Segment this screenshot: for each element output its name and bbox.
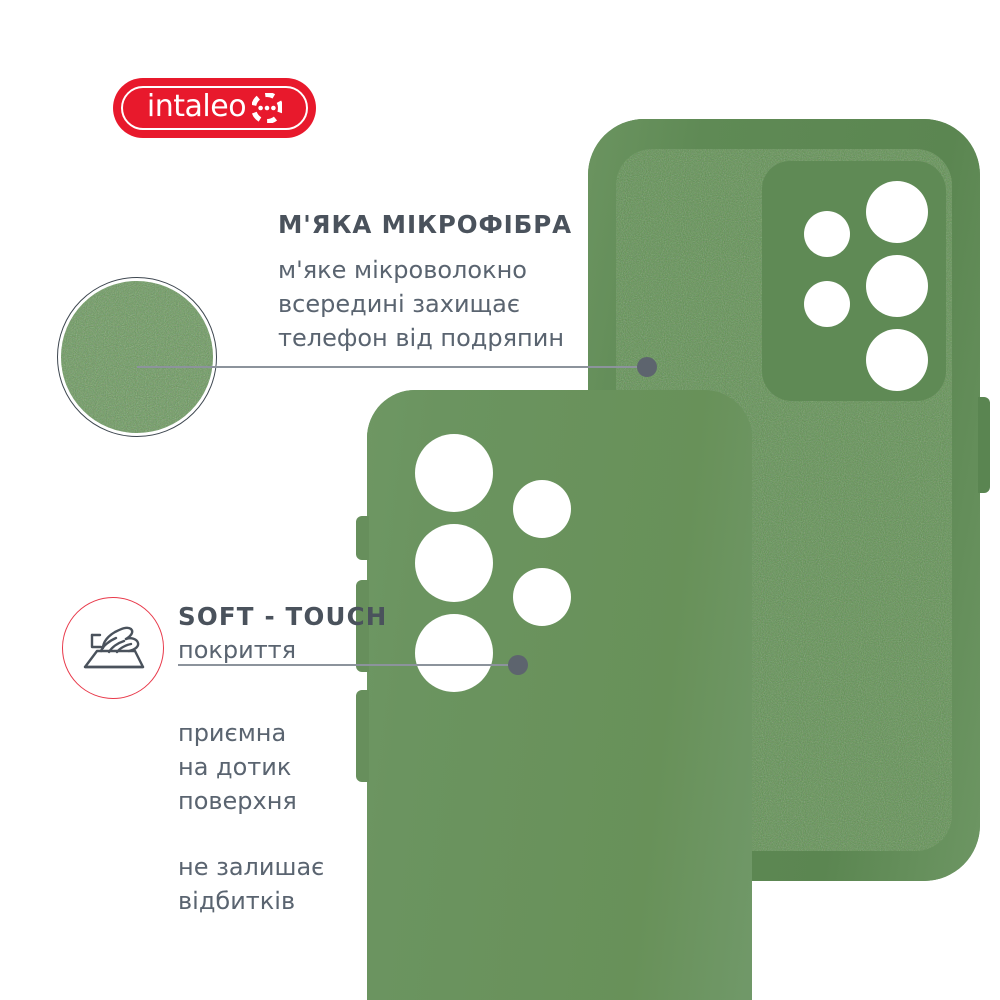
camera-hole-main-3: [866, 329, 928, 391]
swatch-fabric: [61, 281, 213, 433]
camera-hole-main-2: [866, 255, 928, 317]
microfiber-texture-swatch: [57, 277, 217, 437]
camera-hole-main-1: [415, 434, 493, 512]
swatch-texture: [61, 281, 213, 433]
feature-note-pleasant: приємнана дотикповерхня: [178, 716, 297, 818]
feature-heading-microfiber: М'ЯКА МІКРОФІБРА: [278, 210, 572, 239]
camera-hole-main-3: [415, 614, 493, 692]
brand-logo: intaleo: [113, 78, 316, 138]
feature-note-noprints: не залишаєвідбитків: [178, 850, 324, 918]
side-button-right: [978, 397, 990, 493]
brand-name: intaleo: [147, 92, 246, 122]
callout-dot-microfiber: [637, 357, 657, 377]
infographic-canvas: intaleo: [0, 0, 1000, 1000]
camera-hole-main-2: [415, 524, 493, 602]
feature-subheading-softtouch: покриття: [178, 633, 296, 667]
phone-case-front-view: [367, 390, 752, 1000]
callout-dot-softtouch: [508, 655, 528, 675]
camera-hole-small-1: [804, 211, 850, 257]
camera-hole-main-1: [866, 181, 928, 243]
target-dots-icon: [252, 93, 282, 123]
hand-touch-surface-icon: [62, 597, 164, 699]
callout-line-microfiber: [137, 366, 647, 368]
camera-hole-small-2: [513, 568, 571, 626]
logo-outline: intaleo: [121, 86, 308, 130]
side-button-mute: [356, 516, 369, 560]
side-button-volume-down: [356, 690, 369, 782]
camera-hole-small-2: [804, 281, 850, 327]
camera-hole-small-1: [513, 480, 571, 538]
feature-heading-softtouch: SOFT - TOUCH: [178, 602, 387, 631]
feature-body-microfiber: м'яке мікроволокно всередині захищає тел…: [278, 253, 568, 355]
